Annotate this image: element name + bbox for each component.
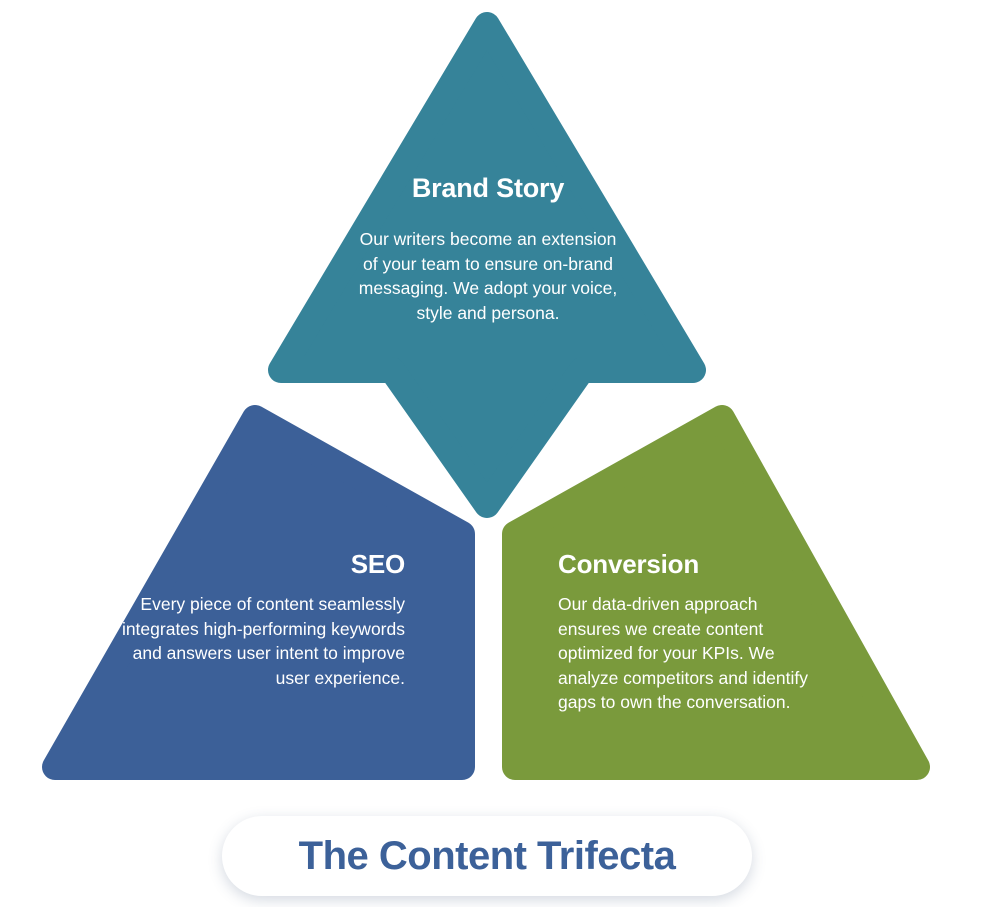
conversion-heading: Conversion bbox=[558, 549, 816, 579]
content-trifecta-infographic: Brand Story Our writers become an extens… bbox=[0, 0, 1001, 907]
brand-story-body: Our writers become an extension of your … bbox=[350, 227, 626, 325]
seo-body: Every piece of content seamlessly integr… bbox=[110, 592, 405, 690]
brand-story-text-block: Brand Story Our writers become an extens… bbox=[350, 168, 626, 325]
seo-heading: SEO bbox=[110, 549, 405, 579]
title-banner: The Content Trifecta bbox=[222, 816, 752, 896]
conversion-text-block: Conversion Our data-driven approach ensu… bbox=[558, 549, 816, 715]
brand-story-heading: Brand Story bbox=[350, 168, 626, 209]
conversion-body: Our data-driven approach ensures we crea… bbox=[558, 592, 816, 715]
title-banner-text: The Content Trifecta bbox=[299, 834, 676, 879]
seo-text-block: SEO Every piece of content seamlessly in… bbox=[110, 549, 405, 690]
trifecta-shapes bbox=[0, 0, 1001, 907]
